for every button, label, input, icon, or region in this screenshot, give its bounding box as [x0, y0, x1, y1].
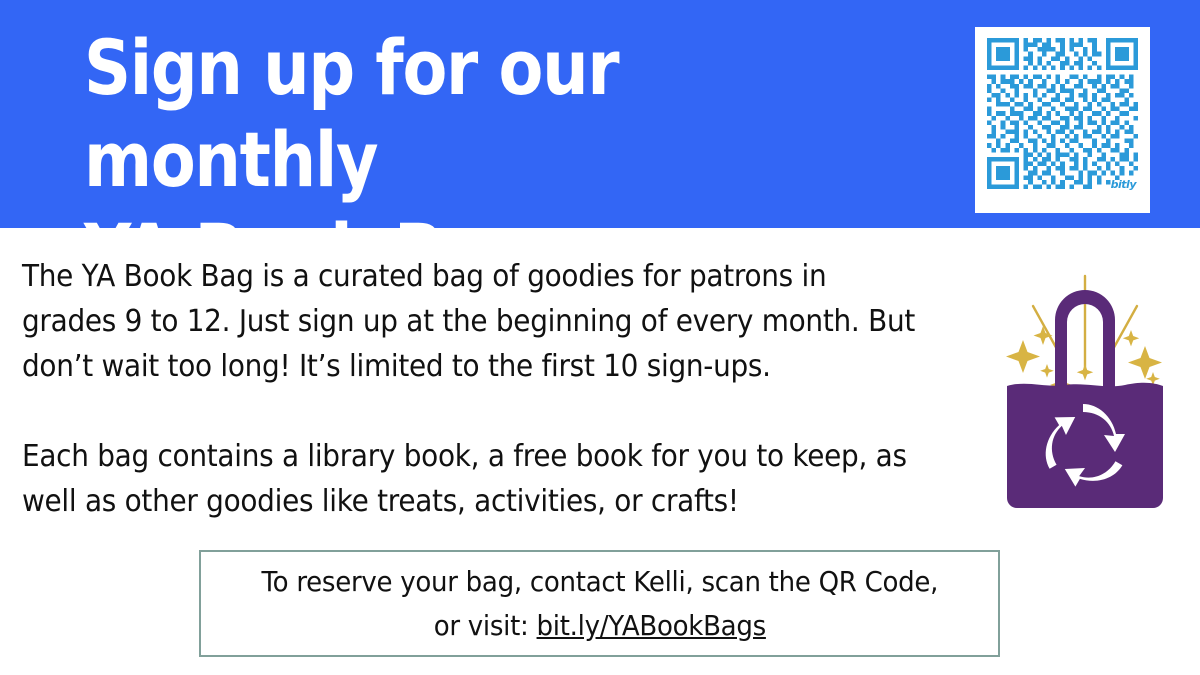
tote-bag-illustration — [985, 268, 1185, 530]
qr-code-card[interactable]: bitly — [975, 27, 1150, 213]
paragraph-contents: Each bag contains a library book, a free… — [22, 434, 929, 524]
tote-body — [1007, 383, 1163, 508]
callout-line-1: To reserve your bag, contact Kelli, scan… — [261, 565, 938, 598]
body-copy: The YA Book Bag is a curated bag of good… — [22, 254, 929, 524]
qr-code-icon[interactable]: bitly — [987, 38, 1138, 189]
paragraph-intro: The YA Book Bag is a curated bag of good… — [22, 254, 929, 389]
bitly-link[interactable]: bit.ly/YABookBags — [536, 609, 765, 642]
callout-line-2-prefix: or visit: — [433, 609, 536, 642]
callout-text: To reserve your bag, contact Kelli, scan… — [261, 560, 938, 648]
bitly-watermark: bitly — [1111, 178, 1136, 191]
callout-box: To reserve your bag, contact Kelli, scan… — [199, 550, 1000, 657]
poster-canvas: Sign up for our monthly YA Book Bag — [0, 0, 1200, 675]
